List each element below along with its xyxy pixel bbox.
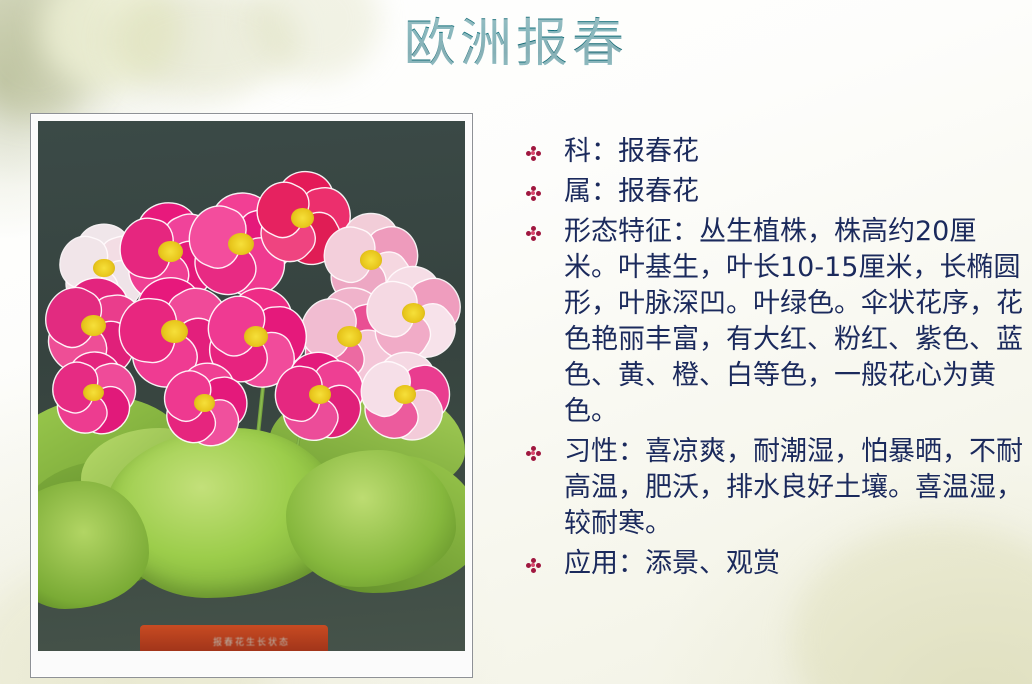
diamond-bullet-icon [526,146,541,161]
list-item: 形态特征：丛生植株，株高约20厘米。叶基生，叶长10-15厘米，长椭圆形，叶脉深… [516,214,1026,430]
photo-caption: 报春花生长状态 [38,635,465,648]
slide-canvas: 欧洲报春 [0,0,1032,684]
list-item: 习性：喜凉爽，耐潮湿，怕暴晒，不耐高温，肥沃，排水良好土壤。喜温湿，较耐寒。 [516,434,1026,542]
list-item: 属：报春花 [516,174,1026,210]
list-item-text: 属：报春花 [564,176,699,207]
list-item-text: 形态特征：丛生植株，株高约20厘米。叶基生，叶长10-15厘米，长椭圆形，叶脉深… [564,216,1023,427]
diamond-bullet-icon [526,558,541,573]
list-item: 应用：添景、观赏 [516,546,1026,582]
flower-photo: 报春花生长状态 [38,121,465,651]
list-item-text: 科：报春花 [564,136,699,167]
page-title: 欧洲报春 [0,8,1032,80]
list-item: 科：报春花 [516,134,1026,170]
bullet-list: 科：报春花 属：报春花 形态特征：丛生植株，株高约20厘米。叶基生，叶长10-1… [516,134,1026,586]
diamond-bullet-icon [526,446,541,461]
list-item-text: 应用：添景、观赏 [564,548,780,579]
diamond-bullet-icon [526,226,541,241]
diamond-bullet-icon [526,186,541,201]
flower-photo-frame: 报春花生长状态 [30,113,473,678]
list-item-text: 习性：喜凉爽，耐潮湿，怕暴晒，不耐高温，肥沃，排水良好土壤。喜温湿，较耐寒。 [564,436,1023,539]
